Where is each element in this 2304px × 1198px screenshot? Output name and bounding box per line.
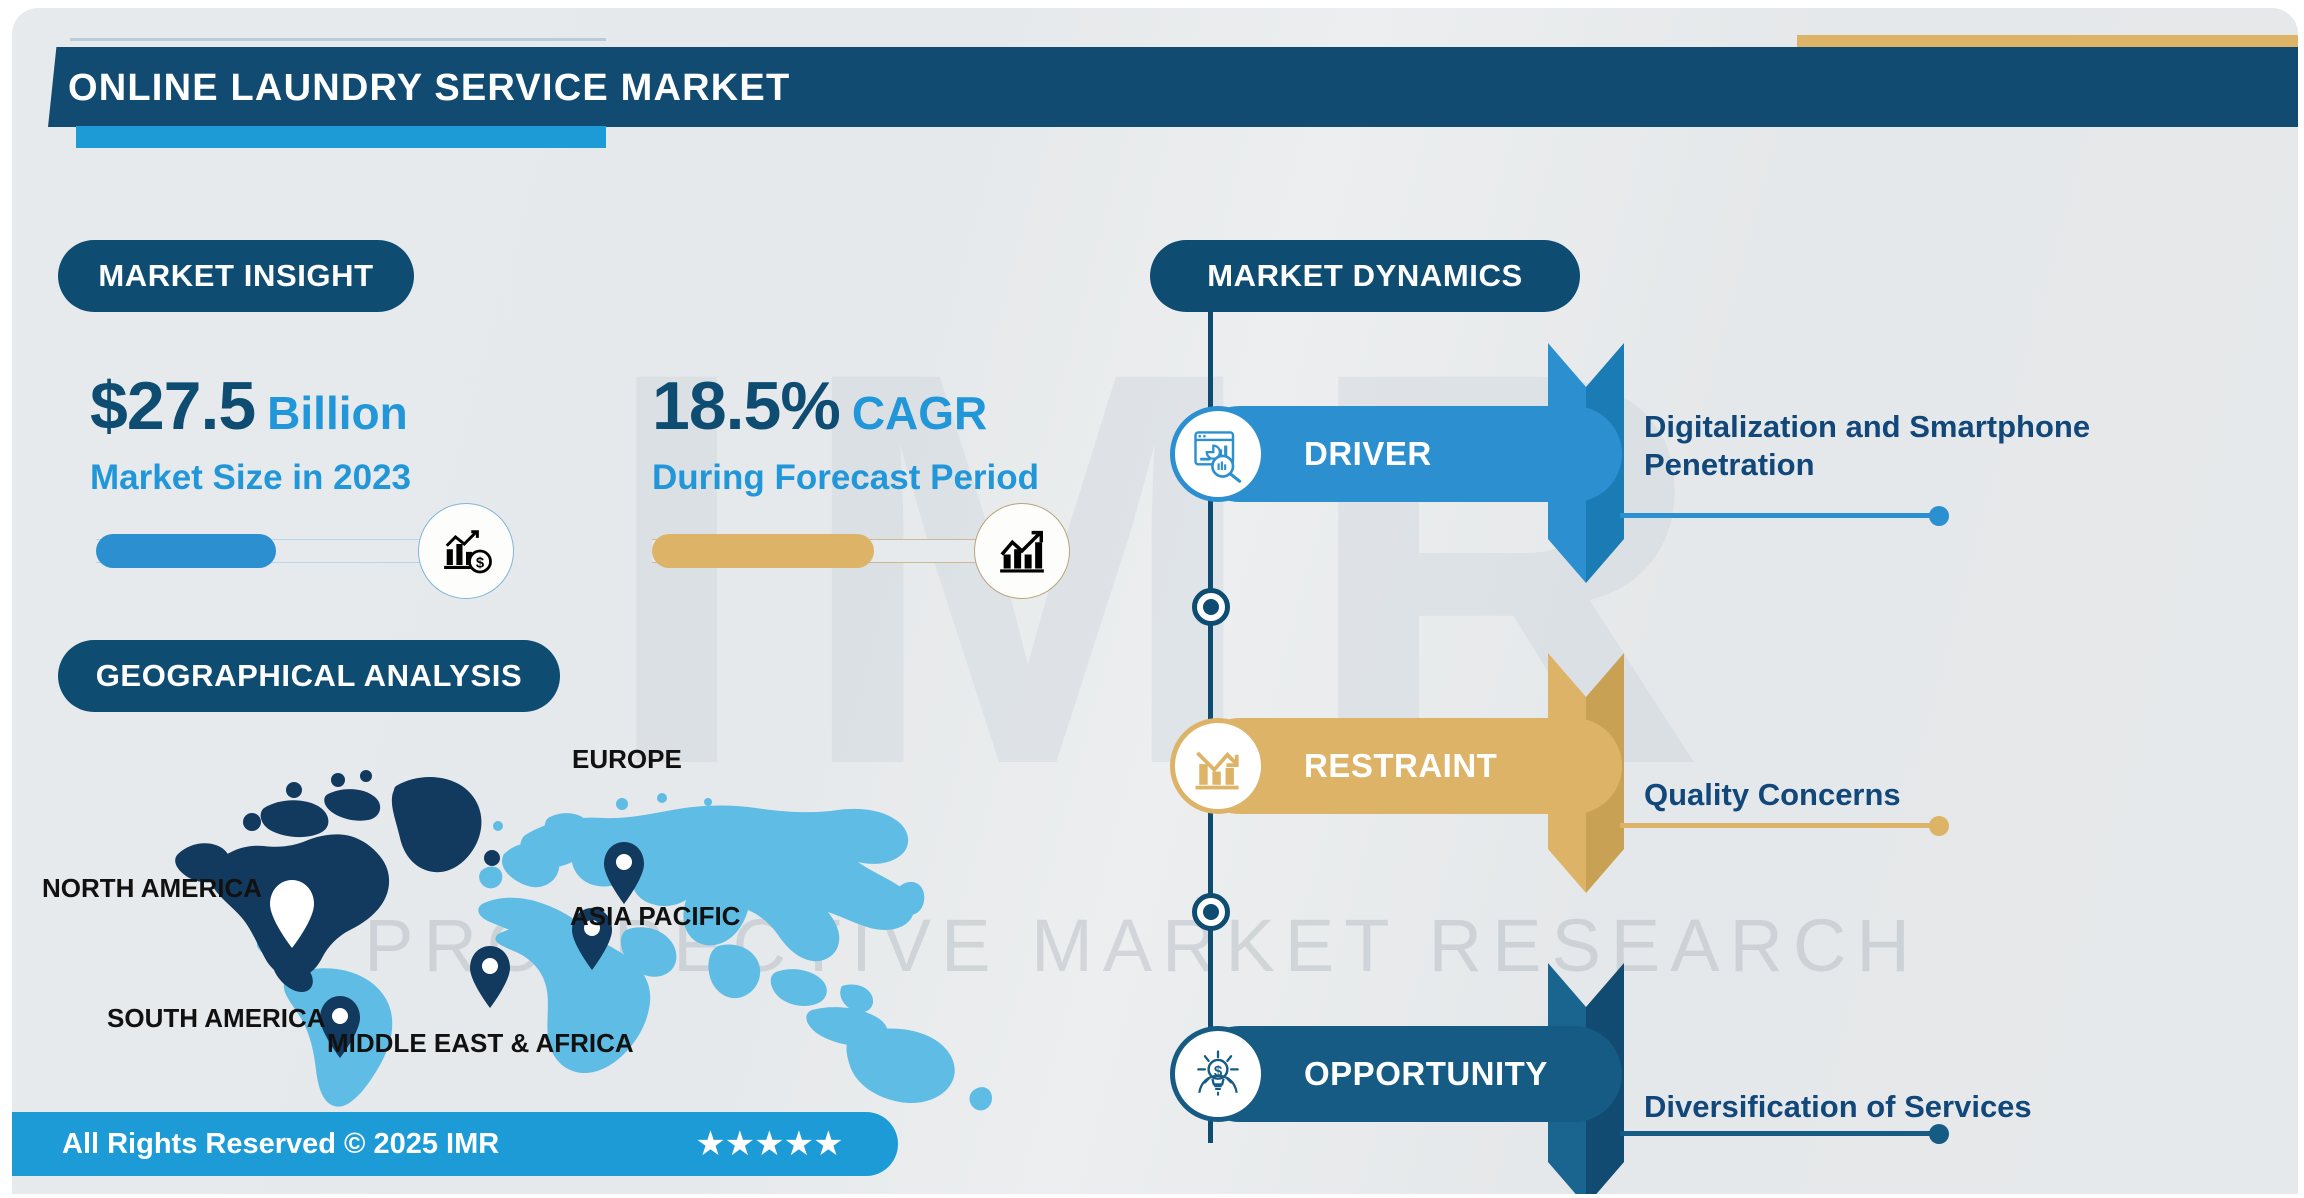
leader-dot-restraint bbox=[1929, 816, 1949, 836]
infographic-canvas: IMR PROSPECTIVE MARKET RESEARCH ONLINE L… bbox=[0, 0, 2304, 1198]
leader-line-restraint bbox=[1620, 823, 1938, 828]
stat-caption: Market Size in 2023 bbox=[90, 458, 411, 498]
dynamics-label: DRIVER bbox=[1304, 435, 1432, 473]
footer-bar: All Rights Reserved © 2025 IMR ★★★★★ bbox=[12, 1112, 898, 1176]
stat-value: $27.5 bbox=[90, 368, 255, 444]
section-pill-market-dynamics: MARKET DYNAMICS bbox=[1150, 240, 1580, 312]
progress-bar-cagr bbox=[652, 528, 982, 574]
bar-chart-dollar-icon: $ bbox=[418, 503, 514, 599]
leader-dot-driver bbox=[1929, 506, 1949, 526]
section-pill-market-insight: MARKET INSIGHT bbox=[58, 240, 414, 312]
dynamics-text-driver: Digitalization and Smartphone Penetratio… bbox=[1644, 408, 2204, 484]
stat-value: 18.5% bbox=[652, 368, 840, 444]
leader-line-opportunity bbox=[1620, 1131, 1938, 1136]
dynamics-label: OPPORTUNITY bbox=[1304, 1055, 1548, 1093]
section-pill-geographical-analysis: GEOGRAPHICAL ANALYSIS bbox=[58, 640, 560, 712]
dynamics-label: RESTRAINT bbox=[1304, 747, 1497, 785]
region-label-asia-pacific: ASIA PACIFIC bbox=[570, 901, 740, 932]
section-pill-label: GEOGRAPHICAL ANALYSIS bbox=[96, 658, 523, 694]
dynamics-text-opportunity: Diversification of Services bbox=[1644, 1088, 2032, 1126]
lightbulb-dollar-icon: $ bbox=[1170, 1026, 1266, 1122]
analytics-report-magnifier-icon bbox=[1170, 406, 1266, 502]
region-label-south-america: SOUTH AMERICA bbox=[107, 1003, 326, 1034]
stat-unit: CAGR bbox=[852, 387, 987, 439]
section-pill-label: MARKET DYNAMICS bbox=[1207, 258, 1523, 294]
header-top-rule bbox=[70, 38, 606, 41]
stat-market-size: $27.5Billion Market Size in 2023 bbox=[90, 372, 411, 498]
dynamics-text-restraint: Quality Concerns bbox=[1644, 776, 1901, 814]
progress-fill bbox=[652, 534, 874, 568]
stat-cagr: 18.5%CAGR During Forecast Period bbox=[652, 372, 1039, 498]
region-label-north-america: NORTH AMERICA bbox=[42, 873, 262, 904]
leader-dot-opportunity bbox=[1929, 1124, 1949, 1144]
stat-unit: Billion bbox=[267, 387, 408, 439]
copyright-text: All Rights Reserved © 2025 IMR bbox=[62, 1128, 499, 1161]
spine-node bbox=[1192, 893, 1230, 931]
svg-text:$: $ bbox=[1214, 1063, 1223, 1080]
header-blue-accent bbox=[76, 126, 606, 148]
infographic-page: IMR PROSPECTIVE MARKET RESEARCH ONLINE L… bbox=[12, 8, 2298, 1194]
map-pin-middle-east-africa bbox=[470, 946, 510, 1008]
stat-caption: During Forecast Period bbox=[652, 458, 1039, 498]
region-label-middle-east-africa: MIDDLE EAST & AFRICA bbox=[327, 1028, 634, 1059]
growth-arrow-chart-icon bbox=[974, 503, 1070, 599]
leader-line-driver bbox=[1620, 513, 1938, 518]
page-title: ONLINE LAUNDRY SERVICE MARKET bbox=[68, 62, 790, 114]
declining-bar-chart-icon bbox=[1170, 718, 1266, 814]
rating-stars-icon: ★★★★★ bbox=[695, 1124, 842, 1164]
progress-fill bbox=[96, 534, 276, 568]
section-pill-label: MARKET INSIGHT bbox=[98, 258, 373, 294]
region-label-europe: EUROPE bbox=[572, 744, 682, 775]
svg-text:$: $ bbox=[476, 556, 485, 572]
spine-node bbox=[1192, 588, 1230, 626]
progress-bar-market-size: $ bbox=[96, 528, 426, 574]
